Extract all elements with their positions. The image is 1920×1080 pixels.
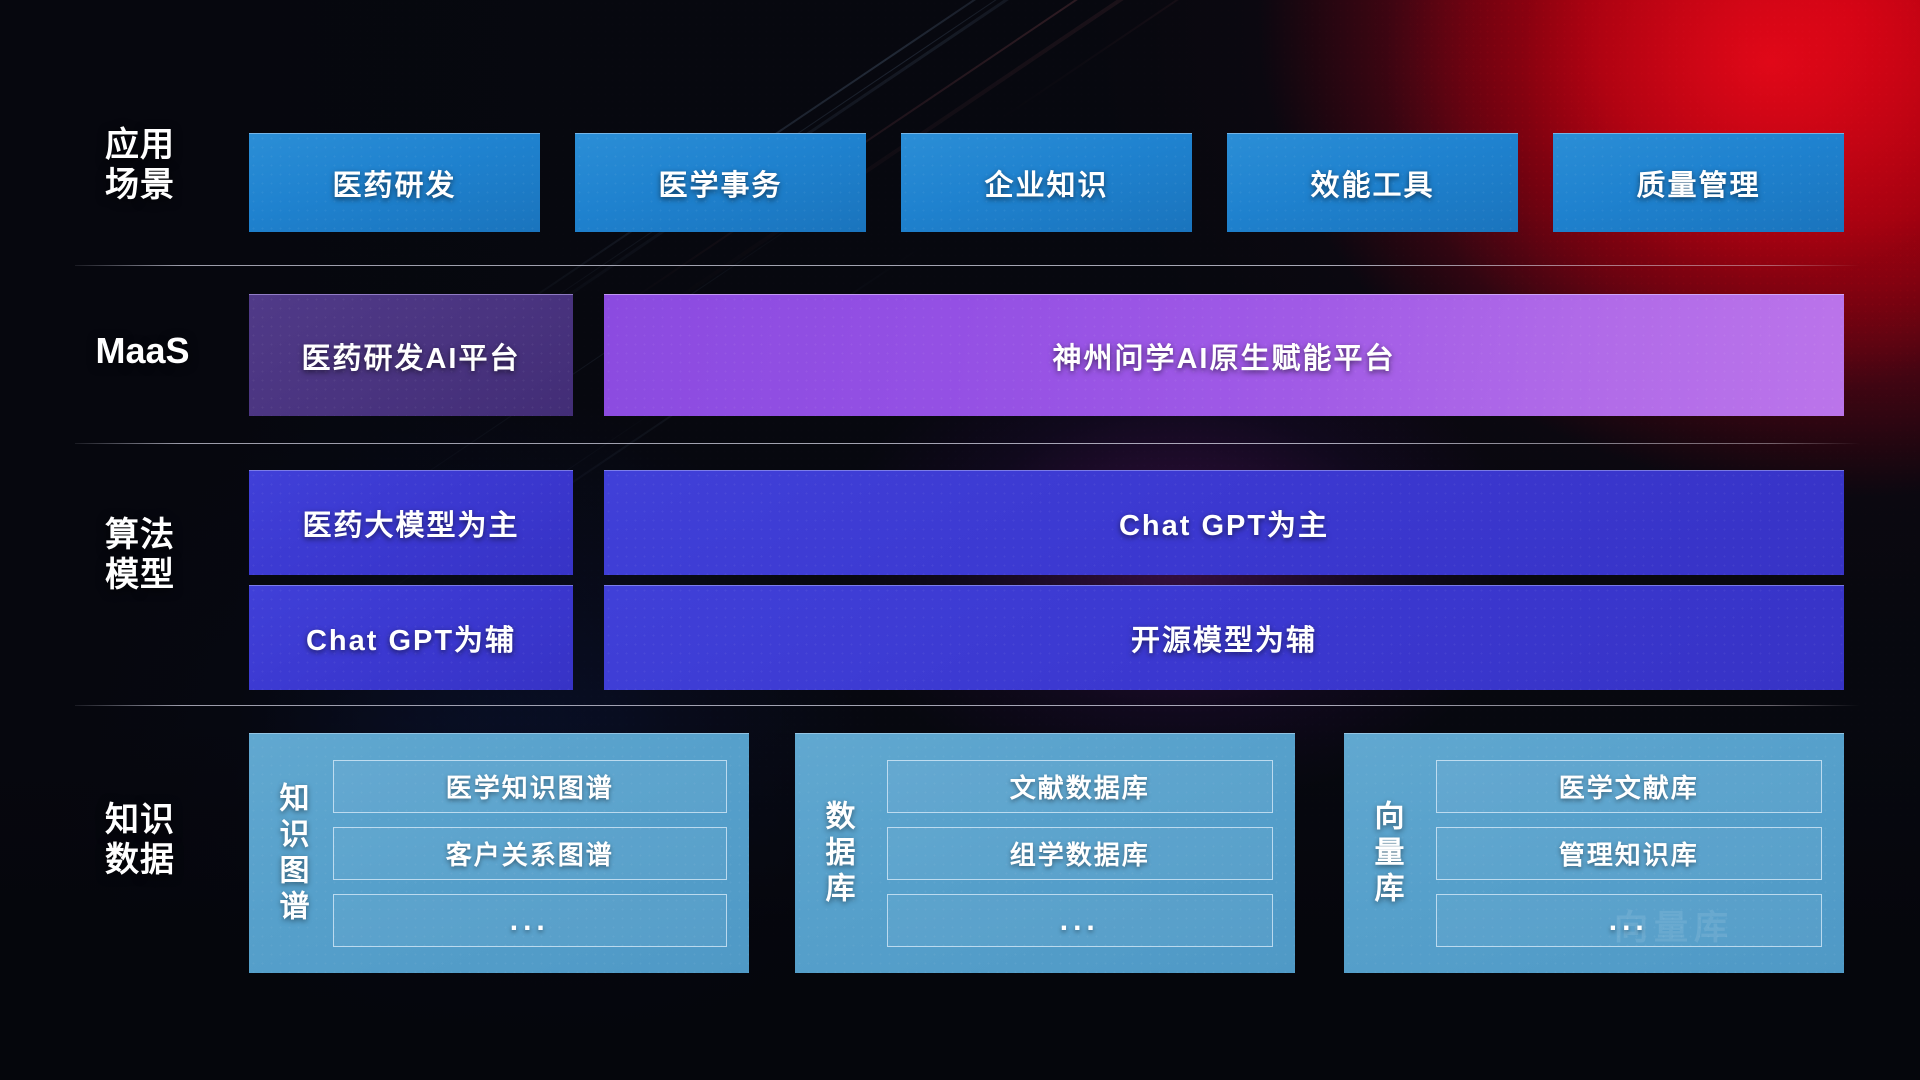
knowledge-panel-1[interactable]: 数据库 文献数据库 组学数据库 ... [795, 733, 1295, 973]
algorithm-right-label-0: Chat GPT为主 [1119, 502, 1329, 544]
algorithm-right-box-0[interactable]: Chat GPT为主 [604, 470, 1844, 575]
knowledge-item-2-1[interactable]: 管理知识库 [1436, 827, 1823, 880]
app-scenario-box-2[interactable]: 企业知识 [901, 133, 1192, 232]
knowledge-item-0-2[interactable]: ... [333, 894, 728, 947]
row-label-knowledge: 知识 数据 [75, 800, 205, 880]
maas-right-box[interactable]: 神州问学AI原生赋能平台 [604, 294, 1844, 416]
knowledge-panel-title-1: 数据库 [821, 800, 853, 908]
maas-left-label: 医药研发AI平台 [301, 335, 520, 377]
knowledge-panel-title-2: 向量库 [1370, 800, 1402, 908]
algorithm-right-box-1[interactable]: 开源模型为辅 [604, 585, 1844, 690]
knowledge-item-2-2[interactable]: ... [1436, 894, 1823, 947]
algorithm-left-label-1: Chat GPT为辅 [306, 617, 516, 659]
algorithm-left-box-0[interactable]: 医药大模型为主 [249, 470, 573, 575]
row-label-application: 应用 场景 [75, 125, 205, 205]
knowledge-panel-items-1: 文献数据库 组学数据库 ... [887, 760, 1274, 947]
maas-left-box[interactable]: 医药研发AI平台 [249, 294, 573, 416]
knowledge-item-1-1[interactable]: 组学数据库 [887, 827, 1274, 880]
knowledge-item-2-0[interactable]: 医学文献库 [1436, 760, 1823, 813]
knowledge-item-1-2[interactable]: ... [887, 894, 1274, 947]
separator-application-maas [75, 265, 1860, 266]
knowledge-item-0-1[interactable]: 客户关系图谱 [333, 827, 728, 880]
app-scenario-box-0[interactable]: 医药研发 [249, 133, 540, 232]
separator-algorithm-knowledge [75, 705, 1860, 706]
app-scenario-box-4[interactable]: 质量管理 [1553, 133, 1844, 232]
app-scenario-label-4: 质量管理 [1636, 162, 1760, 204]
app-scenario-label-0: 医药研发 [332, 162, 456, 204]
row-label-algorithm: 算法 模型 [75, 515, 205, 595]
app-scenario-label-1: 医学事务 [658, 162, 782, 204]
algorithm-left-label-0: 医药大模型为主 [302, 502, 519, 544]
row-label-maas: MaaS [60, 330, 225, 372]
knowledge-panel-0[interactable]: 知识图谱 医学知识图谱 客户关系图谱 ... [249, 733, 749, 973]
knowledge-panel-items-2: 医学文献库 管理知识库 ... [1436, 760, 1823, 947]
app-scenario-box-3[interactable]: 效能工具 [1227, 133, 1518, 232]
knowledge-item-1-0[interactable]: 文献数据库 [887, 760, 1274, 813]
maas-right-label: 神州问学AI原生赋能平台 [1052, 335, 1395, 377]
algorithm-left-box-1[interactable]: Chat GPT为辅 [249, 585, 573, 690]
knowledge-panel-items-0: 医学知识图谱 客户关系图谱 ... [333, 760, 728, 947]
knowledge-panel-2[interactable]: 向量库 医学文献库 管理知识库 ... 向量库 [1344, 733, 1844, 973]
app-scenario-label-3: 效能工具 [1310, 162, 1434, 204]
knowledge-panel-title-0: 知识图谱 [275, 782, 307, 926]
app-scenario-label-2: 企业知识 [984, 162, 1108, 204]
knowledge-item-0-0[interactable]: 医学知识图谱 [333, 760, 728, 813]
algorithm-right-label-1: 开源模型为辅 [1131, 617, 1317, 659]
separator-maas-algorithm [75, 443, 1860, 444]
app-scenario-box-1[interactable]: 医学事务 [575, 133, 866, 232]
